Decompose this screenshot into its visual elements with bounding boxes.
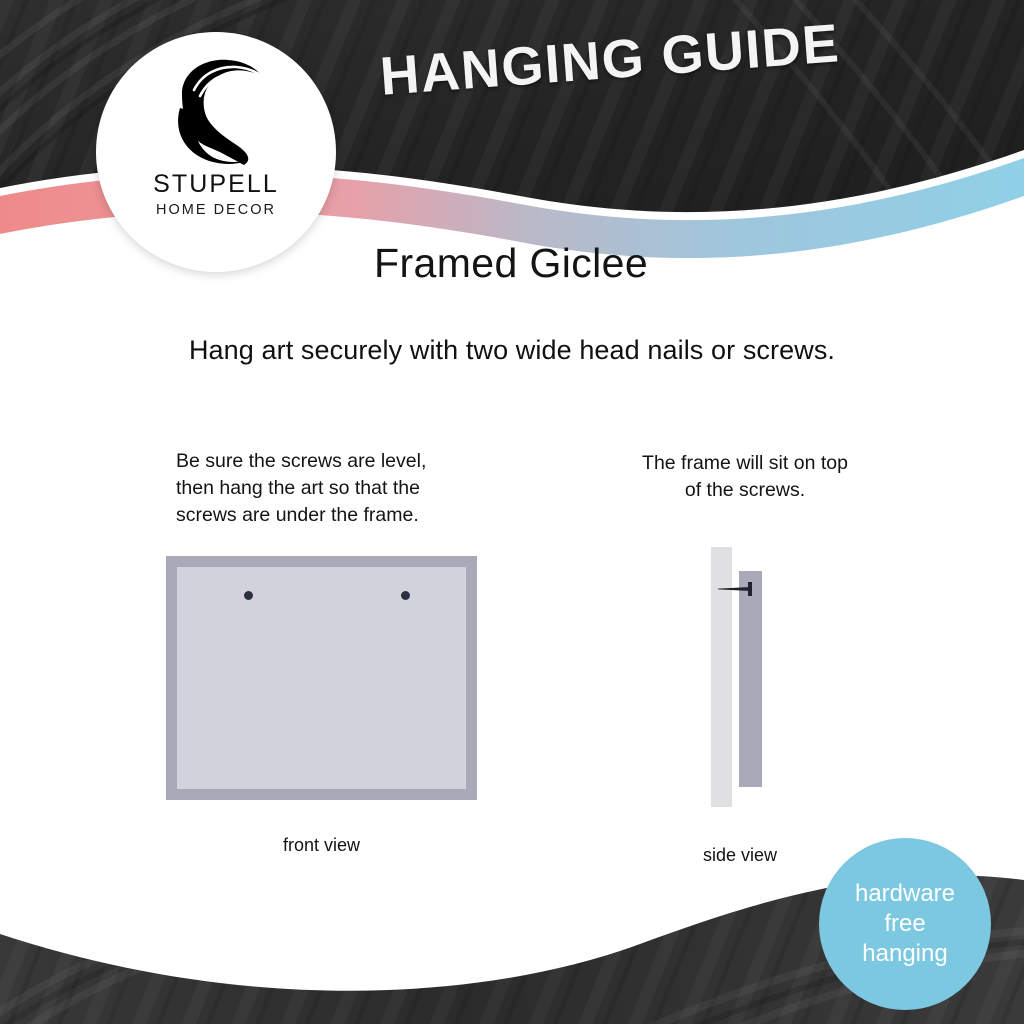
nail-head-icon (748, 582, 752, 596)
page-title: HANGING GUIDE (378, 9, 881, 107)
badge-line-2: free (884, 909, 925, 939)
side-caption-line-2: of the screws. (600, 477, 890, 504)
screw-dot-right (401, 591, 410, 600)
front-caption-line-3: screws are under the frame. (176, 502, 476, 529)
front-view-caption: Be sure the screws are level, then hang … (176, 448, 476, 529)
screw-dot-left (244, 591, 253, 600)
stupell-s-swoosh-icon (164, 54, 268, 166)
brand-logo-badge: STUPELL HOME DECOR (96, 32, 336, 272)
front-caption-line-2: then hang the art so that the (176, 475, 476, 502)
main-instruction-text: Hang art securely with two wide head nai… (0, 335, 1024, 366)
badge-line-3: hanging (862, 939, 947, 969)
product-type-title: Framed Giclee (374, 240, 648, 287)
hardware-free-hanging-badge: hardware free hanging (819, 838, 991, 1010)
front-view-label: front view (166, 835, 477, 856)
front-view-frame-interior (177, 567, 466, 789)
hanging-guide-infographic: STUPELL HOME DECOR HANGING GUIDE Framed … (0, 0, 1024, 1024)
front-view-frame-diagram (166, 556, 477, 800)
side-view-wall-strip (711, 547, 732, 807)
side-view-caption: The frame will sit on top of the screws. (600, 450, 890, 504)
side-view-frame-strip (739, 571, 762, 787)
side-view-label: side view (660, 845, 820, 866)
front-caption-line-1: Be sure the screws are level, (176, 448, 476, 475)
badge-line-1: hardware (855, 879, 955, 909)
side-caption-line-1: The frame will sit on top (600, 450, 890, 477)
logo-subtext: HOME DECOR (156, 202, 276, 218)
logo-wordmark: STUPELL (153, 170, 279, 199)
